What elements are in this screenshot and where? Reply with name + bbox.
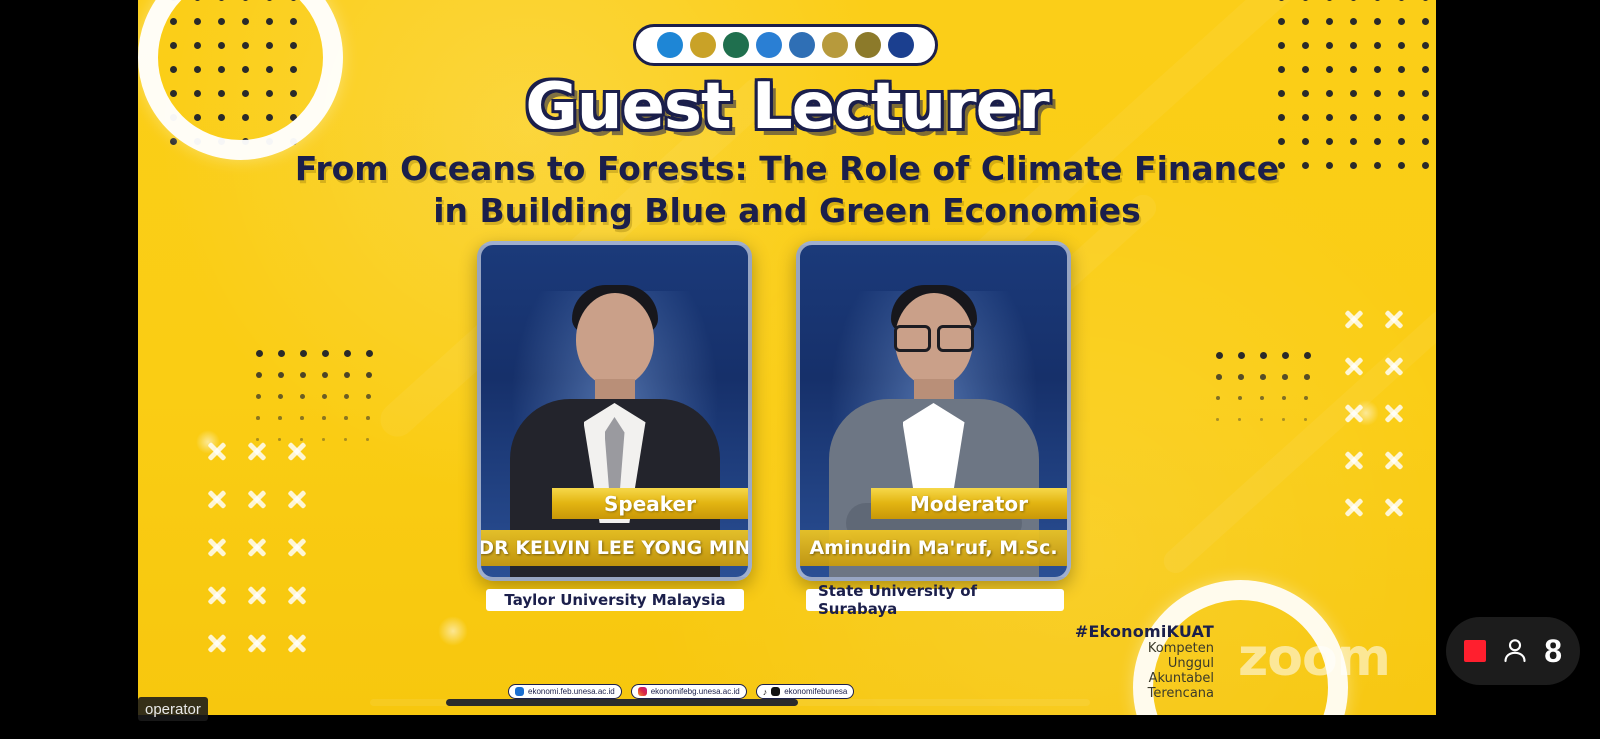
social-handles: ekonomi.feb.unesa.ac.id ekonomifebg.unes… [508,684,854,699]
subtitle-line-1: From Oceans to Forests: The Role of Clim… [198,148,1376,190]
active-speaker-label: operator [138,697,208,721]
anniversary-logo [855,32,881,58]
decorative-dot [1278,18,1285,25]
decorative-dot [300,416,304,420]
decorative-dot [366,416,370,420]
garuda-emblem-logo-mark [690,32,716,58]
decorative-dot [1304,374,1310,380]
zoom-meeting-window: Guest Lecturer From Oceans to Forests: T… [0,0,1600,739]
speaker-portrait [481,245,748,577]
instagram-icon [638,687,647,696]
decorative-dot [1260,374,1266,380]
decorative-dot [322,372,328,378]
decorative-x-mark [206,488,228,510]
tiktok-note-icon: ♪ [763,687,768,697]
kemendikbud-logo [789,32,815,58]
campaign-hashtag: #EkonomiKUAT [1075,622,1214,641]
decorative-dot [1304,396,1308,400]
decorative-dot [1282,374,1288,380]
social-pill-instagram: ekonomifebg.unesa.ac.id [631,684,747,699]
decorative-dot [300,372,306,378]
quote-mark-logo [888,32,914,58]
decorative-x-mark [286,584,308,606]
decorative-dot [344,438,347,441]
decorative-dot [1350,0,1357,1]
tagline-value: Terencana [1075,686,1214,701]
moderator-card: Moderator Aminudin Ma'ruf, M.Sc. [796,241,1071,581]
head-shape [576,293,654,387]
decorative-x-mark [1383,402,1405,424]
decorative-x-mark [206,536,228,558]
decorative-dot [1398,0,1405,1]
decorative-x-mark [246,536,268,558]
participants-count: 8 [1544,633,1562,670]
decorative-dot [322,394,327,399]
speaker-role-ribbon: Speaker [552,488,748,519]
person-icon [1500,636,1530,666]
tagline-value: Kompeten [1075,641,1214,656]
speaker-affiliation: Taylor University Malaysia [486,589,744,611]
slide-subtitle: From Oceans to Forests: The Role of Clim… [198,148,1376,232]
bird-logo-mark [756,32,782,58]
decorative-dot [1302,42,1309,49]
decorative-dot [1302,18,1309,25]
decorative-dot [1422,0,1429,1]
green-circle-logo [723,32,749,58]
share-scrollbar-thumb[interactable] [446,699,798,706]
decorative-x-mark [246,440,268,462]
tagline-value: Unggul [1075,656,1214,671]
instagram-icon [771,687,780,696]
decorative-dot [1282,352,1289,359]
social-handle-text: ekonomifebunesa [784,687,847,696]
decorative-x-mark [286,536,308,558]
social-handle-text: ekonomifebg.unesa.ac.id [651,687,740,696]
decorative-x-mark [1343,449,1365,471]
unesa-logo [657,32,683,58]
decorative-dot [1304,418,1307,421]
decorative-dot [1238,396,1242,400]
unesa-logo-mark [657,32,683,58]
decorative-x-mark [1383,496,1405,518]
decorative-dot [1260,396,1264,400]
decorative-dot [1260,352,1267,359]
decorative-dot [256,350,263,357]
decorative-dot [344,394,349,399]
decorative-dot [256,416,260,420]
decorative-dot [1278,42,1285,49]
decorative-dot [1302,0,1309,1]
decorative-dot [344,350,351,357]
decorative-dot [322,416,326,420]
green-circle-logo-mark [723,32,749,58]
screen-share-viewport[interactable]: Guest Lecturer From Oceans to Forests: T… [138,0,1436,715]
decorative-x-mark [1383,449,1405,471]
decorative-x-mark [286,632,308,654]
participants-badge[interactable]: 8 [1446,617,1580,685]
decorative-x-mark [246,632,268,654]
decorative-dot [1326,42,1333,49]
decorative-dot [1398,162,1405,169]
decorative-dot [256,394,261,399]
decorative-dot [278,416,282,420]
decorative-dot [366,438,369,441]
decorative-dot [278,372,284,378]
decorative-dot [1304,352,1311,359]
moderator-affiliation: State University of Surabaya [806,589,1064,611]
decorative-dot [1350,18,1357,25]
decorative-x-mark [206,632,228,654]
decorative-dot [1216,396,1220,400]
decorative-x-mark [286,440,308,462]
page-title: Guest Lecturer [138,70,1436,144]
decorative-dot [1260,418,1263,421]
moderator-role-ribbon: Moderator [871,488,1067,519]
decorative-dot [322,438,325,441]
decorative-dot [366,372,372,378]
decorative-dot [300,350,307,357]
decorative-x-mark [1343,496,1365,518]
decorative-dot [322,350,329,357]
presentation-slide: Guest Lecturer From Oceans to Forests: T… [138,0,1436,715]
tagline-block: #EkonomiKUAT Kompeten Unggul Akuntabel T… [1075,622,1214,701]
decorative-dot [278,350,285,357]
decorative-dot [1398,42,1405,49]
glasses-icon [894,325,974,347]
bird-logo [756,32,782,58]
decorative-x-mark [1383,308,1405,330]
zoom-watermark: zoom [1238,628,1390,688]
decorative-dot [1216,374,1222,380]
decorative-x-mark [206,584,228,606]
decorative-dot [1238,418,1241,421]
garuda-emblem-logo [690,32,716,58]
decorative-dot [1216,352,1223,359]
decorative-dot [1422,18,1429,25]
decorative-dot [1422,162,1429,169]
decorative-dot [1422,42,1429,49]
glow-blob [438,616,468,646]
recording-dot-icon [1464,640,1486,662]
glow-blob [1353,400,1379,426]
speaker-name: DR KELVIN LEE YONG MIN [481,530,748,566]
moderator-name: Aminudin Ma'ruf, M.Sc. [800,530,1067,566]
decorative-dot [344,372,350,378]
decorative-streak [1159,306,1436,578]
website-icon [515,687,524,696]
decorative-dot [256,372,262,378]
decorative-dot [256,438,259,441]
kemendikbud-logo-mark [789,32,815,58]
decorative-x-mark [1343,308,1365,330]
decorative-dot [1238,374,1244,380]
anniversary-logo-mark [855,32,881,58]
decorative-x-mark [286,488,308,510]
decorative-dot [1282,418,1285,421]
decorative-dot [1282,396,1286,400]
social-pill-tiktok: ♪ ekonomifebunesa [756,684,855,699]
decorative-x-mark [246,488,268,510]
decorative-dot [278,438,281,441]
glow-blob [196,430,220,454]
decorative-dot [1350,42,1357,49]
subtitle-line-2: in Building Blue and Green Economies [198,190,1376,232]
united-nations-logo [822,32,848,58]
decorative-dot [1374,18,1381,25]
decorative-dot [1398,18,1405,25]
social-pill-website: ekonomi.feb.unesa.ac.id [508,684,622,699]
institutional-logo-bar [633,24,938,66]
decorative-dot [366,350,373,357]
decorative-x-mark [1383,355,1405,377]
decorative-dot [1374,0,1381,1]
decorative-dot [1326,18,1333,25]
quote-mark-logo-mark [888,32,914,58]
social-handle-text: ekonomi.feb.unesa.ac.id [528,687,615,696]
decorative-dot [278,394,283,399]
decorative-dot [300,438,303,441]
decorative-dot [366,394,371,399]
speaker-card: Speaker DR KELVIN LEE YONG MIN [477,241,752,581]
decorative-dot [300,394,305,399]
decorative-dot [1278,0,1285,1]
decorative-dot [1216,418,1219,421]
decorative-x-mark [1343,355,1365,377]
united-nations-logo-mark [822,32,848,58]
decorative-dot [1238,352,1245,359]
moderator-portrait [800,245,1067,577]
tagline-value: Akuntabel [1075,671,1214,686]
decorative-dot [1374,42,1381,49]
decorative-dot [344,416,348,420]
decorative-dot [1326,0,1333,1]
decorative-x-mark [246,584,268,606]
